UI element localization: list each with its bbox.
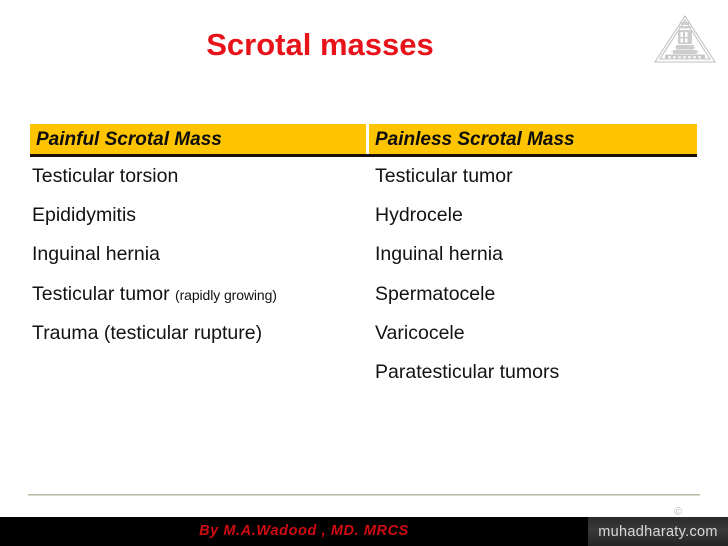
column-header-painful: Painful Scrotal Mass [36,127,222,152]
cell-painful-text: Trauma (testicular rupture) [32,322,262,344]
cell-painful-text: Testicular torsion [32,165,178,187]
table-row: Testicular tumor (rapidly growing) Sperm… [30,279,697,318]
watermark-panel: muhadharaty.com [588,517,728,546]
cell-painful-text: Inguinal hernia [32,243,160,265]
cell-painless: Testicular tumor [375,161,513,191]
watermark-text: muhadharaty.com [588,517,728,546]
cell-painful-text: Epididymitis [32,204,136,226]
cell-painless: Hydrocele [375,200,463,230]
table-row: Inguinal hernia Inguinal hernia [30,239,697,278]
table-row: Paratesticular tumors [30,357,697,396]
table-body: Testicular torsion Testicular tumor Epid… [30,157,697,421]
cell-painful-text: Testicular tumor [32,283,170,305]
column-header-painless: Painless Scrotal Mass [375,127,575,152]
cell-painful: Inguinal hernia [32,239,160,269]
table-row: Trauma (testicular rupture) Varicocele [30,318,697,357]
table-row: Epididymitis Hydrocele [30,200,697,239]
cell-painful: Trauma (testicular rupture) [32,318,262,348]
header-column-divider [366,124,369,154]
footer-divider [28,494,700,496]
cell-painful: Epididymitis [32,200,136,230]
cell-painless: Varicocele [375,318,465,348]
page-title: Scrotal masses [0,26,640,64]
slide: Scrotal masses [0,0,728,546]
cell-painful: Testicular torsion [32,161,178,191]
cell-painful: Testicular tumor (rapidly growing) [32,279,277,310]
cell-painless: Spermatocele [375,279,495,309]
author-credit: By M.A.Wadood , MD. MRCS [0,517,608,546]
table-row: Testicular torsion Testicular tumor [30,161,697,200]
scrotal-masses-table: Painful Scrotal Mass Painless Scrotal Ma… [30,124,697,421]
cell-painless: Paratesticular tumors [375,357,559,387]
table-header-row: Painful Scrotal Mass Painless Scrotal Ma… [30,124,697,157]
university-monument-emblem-icon [651,12,719,72]
cell-painless: Inguinal hernia [375,239,503,269]
cell-painful-note: (rapidly growing) [175,287,277,303]
